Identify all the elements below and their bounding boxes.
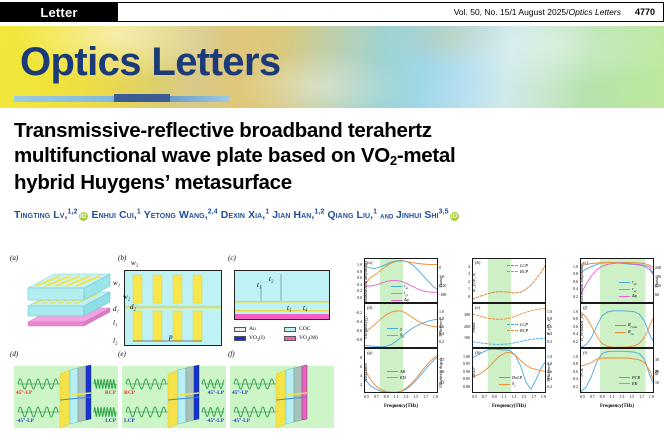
author-affiliation: 1,2 xyxy=(314,209,324,216)
panel-b-top-view: w₂ w₁ w₂ d₁ d₂ l₁ l₂ p xyxy=(124,270,222,346)
panel-tag-a: (a) xyxy=(367,260,372,265)
orcid-icon[interactable]: iD xyxy=(450,212,459,221)
x-tick-0: 0.5 xyxy=(364,394,369,402)
author-4: Dexin Xia,1 xyxy=(221,210,270,221)
wave-label-out-top: 45°-LP xyxy=(208,390,224,396)
x-tick-1: 0.7 xyxy=(590,394,595,402)
legend-line xyxy=(387,328,398,329)
legend-line xyxy=(619,383,630,384)
plot-legend: χS3 xyxy=(387,326,404,339)
dim-label-t2: t₂ xyxy=(269,275,273,283)
y2-tick-c-1: 120 xyxy=(655,283,664,288)
y-tick-c-2: 0.6 xyxy=(566,279,578,284)
y-tick-b-0: 0 xyxy=(458,294,470,299)
wave-label-out-bottom: LCP xyxy=(105,418,116,424)
author-affiliation: 1 xyxy=(265,209,269,216)
y2-tick-i-0: 10 xyxy=(655,380,664,385)
plot-legend: LCPRCP xyxy=(507,263,528,275)
y2-tick-c-3: 240 xyxy=(655,265,664,270)
legend-line xyxy=(499,377,510,378)
figure-area: (a) (b) (c) (d) (e) (f) xyxy=(0,252,664,440)
structure-3d-svg xyxy=(22,266,118,340)
dim-label-p: p xyxy=(169,333,173,341)
legend-text: ryy xyxy=(632,286,637,293)
title-line-1: Transmissive-reflective broadband terahe… xyxy=(14,119,432,142)
y-axis-label-g: Axial ratio xyxy=(363,350,368,395)
wave-label-in-top: 45°-LP xyxy=(232,390,248,396)
volume-text: Vol. 50, No. 15/1 August 2025/Optics Let… xyxy=(454,7,621,17)
y-tick-a-0: 0.0 xyxy=(350,295,362,300)
cross-section-svg xyxy=(235,271,329,319)
y-tick-a-4: 0.8 xyxy=(350,269,362,274)
y-tick-h-1: 0.85 xyxy=(458,376,470,381)
volume-info-bar: Vol. 50, No. 15/1 August 2025/Optics Let… xyxy=(118,2,664,22)
x-tick-3: 1.1 xyxy=(610,394,615,402)
y-tick-f-4: 1.0 xyxy=(566,309,578,314)
orcid-icon[interactable]: iD xyxy=(79,212,88,221)
y-tick-b-4: 4 xyxy=(458,264,470,269)
journal-header-bar: Letter Vol. 50, No. 15/1 August 2025/Opt… xyxy=(0,2,664,22)
y-tick-d-3: -0.2 xyxy=(350,310,362,315)
plot-legend: DoLPS1 xyxy=(499,375,522,388)
y-tick-f-1: 0.4 xyxy=(566,331,578,336)
legend-item-R_cross: Rcross xyxy=(615,322,637,329)
y-tick-b-1: 1 xyxy=(458,286,470,291)
legend-swatch xyxy=(234,336,246,341)
page-number: 4770 xyxy=(635,7,655,17)
masthead-journal-title: Optics Letters xyxy=(20,40,281,85)
y-tick-g-0: 2 xyxy=(350,382,362,387)
legend-text: rxx xyxy=(632,279,637,286)
legend-text: RCP xyxy=(520,269,528,275)
y-tick-e-2: 300 xyxy=(458,312,470,317)
article-type-tab: Letter xyxy=(0,2,118,22)
y-tick-f-3: 0.8 xyxy=(566,316,578,321)
panel-label-e: (e) xyxy=(118,350,126,358)
legend-text: Rcross xyxy=(628,322,637,329)
legend-line xyxy=(391,300,402,301)
legend-label: COC xyxy=(299,326,311,332)
panel-tag-c: (c) xyxy=(583,260,588,265)
legend-text: ER xyxy=(632,381,637,387)
legend-line xyxy=(387,371,398,372)
chart-grid: (a)txxtyyΔφTransmission amplitudesPhase0… xyxy=(340,254,662,440)
x-tick-2: 0.9 xyxy=(492,394,497,402)
y-tick-c-0: 0.2 xyxy=(566,294,578,299)
chart-column-1: (a)txxtyyΔφTransmission amplitudesPhase0… xyxy=(342,254,442,440)
panel-tag-h: (h) xyxy=(475,350,480,355)
legend-line xyxy=(507,271,518,272)
y-tick-d-0: -0.8 xyxy=(350,337,362,342)
page-title: Transmissive-reflective broadband terahe… xyxy=(14,118,484,195)
plot-legend: LCPRCP xyxy=(507,322,528,334)
legend-line xyxy=(619,289,630,290)
chart-panel-i[interactable]: (i)PCRER xyxy=(580,348,654,393)
title-subscript: 2 xyxy=(390,153,397,168)
author-7: Jinhui Shi3,5iD xyxy=(396,210,460,221)
dim-label-t3: t₃ xyxy=(287,304,291,312)
legend-swatch xyxy=(284,327,296,332)
x-tick-4: 1.3 xyxy=(511,394,516,402)
top-view-svg xyxy=(125,271,221,345)
plot-legend: txxtyyΔφ xyxy=(391,283,409,303)
chart-panel-c[interactable]: (c)rxxryyΔφ xyxy=(580,258,654,303)
y-axis-label-b: |E_y|/|E_x| xyxy=(471,260,476,305)
author-3: Yetong Wang,2,4 xyxy=(144,210,218,221)
legend-item-ER: ER xyxy=(619,381,640,387)
legend-text: S1 xyxy=(512,381,516,388)
y-tick-h-4: 1.00 xyxy=(458,354,470,359)
y-tick-d-1: -0.6 xyxy=(350,328,362,333)
y-tick-b-3: 3 xyxy=(458,271,470,276)
y-tick-b-2: 2 xyxy=(458,279,470,284)
author-list: Tingting Lv,1,2iD Enhui Cui,1 Yetong Wan… xyxy=(14,208,554,225)
x-axis-label: Frequency(THz) xyxy=(364,404,438,409)
legend-line xyxy=(507,330,518,331)
y2-tick-i-1: 20 xyxy=(655,369,664,374)
y-tick-i-0: 0.2 xyxy=(566,384,578,389)
title-line-3: hybrid Huygens’ metasurface xyxy=(14,171,292,194)
legend-text: ED xyxy=(400,375,406,381)
x-tick-labels: 0.50.70.91.11.31.51.71.9 xyxy=(580,394,654,402)
author-affiliation: 1 xyxy=(373,209,377,216)
dim-label-d1: d₁ xyxy=(113,305,119,313)
legend-text: txx xyxy=(404,283,408,290)
journal-name-italic: Optics Letters xyxy=(569,7,621,17)
author-affiliation: 1,2 xyxy=(68,209,78,216)
plot-legend: ARED xyxy=(387,369,406,381)
legend-line xyxy=(499,384,510,385)
plot-legend: PCRER xyxy=(619,375,640,387)
author-conjunction: and xyxy=(380,210,396,220)
legend-line xyxy=(619,296,630,297)
wave-label-in-bottom: -45°-LP xyxy=(232,418,250,424)
y2-tick-c-2: 180 xyxy=(655,274,664,279)
dim-label-w1: w₁ xyxy=(113,279,120,287)
x-tick-7: 1.9 xyxy=(649,394,654,402)
y2-tick-i-2: 30 xyxy=(655,357,664,362)
legend-item-RCP: RCP xyxy=(507,269,528,275)
legend-label: VO2(M) xyxy=(299,335,318,342)
legend-line xyxy=(507,324,518,325)
x-tick-labels: 0.50.70.91.11.31.51.71.9 xyxy=(472,394,546,402)
x-tick-6: 1.7 xyxy=(531,394,536,402)
title-line-2a: multifunctional wave plate based on VO xyxy=(14,144,390,167)
y-axis-label-i: PCR xyxy=(579,350,584,395)
y-tick-a-2: 0.4 xyxy=(350,282,362,287)
plot-svg xyxy=(581,259,654,303)
x-tick-0: 0.5 xyxy=(472,394,477,402)
x-tick-5: 1.5 xyxy=(521,394,526,402)
x-tick-4: 1.3 xyxy=(403,394,408,402)
chart-panel-h[interactable]: (h)DoLPS1 xyxy=(472,348,546,393)
author-1: Tingting Lv,1,2iD xyxy=(14,210,89,221)
x-tick-labels: 0.50.70.91.11.31.51.71.9 xyxy=(364,394,438,402)
y-tick-c-1: 0.4 xyxy=(566,286,578,291)
author-5: Jian Han,1,2 xyxy=(272,210,324,221)
legend-line xyxy=(615,325,626,326)
legend-swatch xyxy=(284,336,296,341)
panel-e-wave-diagram: RCPLCP45°-LP-45°-LP xyxy=(122,362,226,434)
legend-text: RCP xyxy=(520,328,528,334)
panel-tag-i: (i) xyxy=(583,350,587,355)
material-legend-VOI: VO2(I) xyxy=(234,335,282,342)
legend-label: Au xyxy=(249,326,256,332)
y-axis-label-f: R_cross&R_co xyxy=(579,305,584,350)
legend-item-R_co: Rco xyxy=(615,329,637,336)
y-tick-f-0: 0.2 xyxy=(566,339,578,344)
panel-tag-b: (b) xyxy=(475,260,480,265)
panel-tag-f: (f) xyxy=(583,305,587,310)
x-tick-2: 0.9 xyxy=(600,394,605,402)
x-tick-7: 1.9 xyxy=(541,394,546,402)
panel-label-a: (a) xyxy=(10,254,18,262)
y-tick-i-2: 0.6 xyxy=(566,369,578,374)
wave-label-in-top: 45°-LP xyxy=(16,390,32,396)
plot-svg xyxy=(581,349,654,393)
legend-item-t_xx: txx xyxy=(391,283,409,290)
panel-label-b: (b) xyxy=(118,254,126,262)
panel-f-wave-diagram: 45°-LP-45°-LP xyxy=(230,362,334,434)
panel-label-f: (f) xyxy=(228,350,235,358)
y-axis-label-h: DoLP xyxy=(471,350,476,395)
x-tick-1: 0.7 xyxy=(482,394,487,402)
dim-label-l1: l₁ xyxy=(113,319,117,327)
legend-line xyxy=(507,265,518,266)
y-tick-e-1: 200 xyxy=(458,324,470,329)
chart-panel-a[interactable]: (a)txxtyyΔφ xyxy=(364,258,438,303)
author-affiliation: 3,5 xyxy=(439,209,449,216)
x-tick-3: 1.1 xyxy=(502,394,507,402)
legend-item-RCP: RCP xyxy=(507,328,528,334)
legend-item-delta-phi: Δφ xyxy=(619,293,637,299)
x-axis-label: Frequency(THz) xyxy=(472,404,546,409)
legend-item-S3: S3 xyxy=(387,332,404,339)
y-tick-g-1: 4 xyxy=(350,373,362,378)
legend-item-r_xx: rxx xyxy=(619,279,637,286)
x-tick-5: 1.5 xyxy=(413,394,418,402)
wave-label-in-bottom: -45°-LP xyxy=(16,418,34,424)
legend-text: tyy xyxy=(404,290,408,297)
legend-line xyxy=(391,293,402,294)
legend-text: Δφ xyxy=(632,293,637,299)
y-tick-a-5: 1.0 xyxy=(350,262,362,267)
material-legend-Au: Au xyxy=(234,326,282,332)
panel-tag-e: (e) xyxy=(475,305,480,310)
legend-item-t_yy: tyy xyxy=(391,290,409,297)
x-tick-1: 0.7 xyxy=(374,394,379,402)
panel-tag-d: (d) xyxy=(367,305,372,310)
panel-c-cross-section: t₁ t₂ t₃ t₄ xyxy=(234,270,330,320)
y-axis-label-c: Reflection amplitudes xyxy=(579,260,584,305)
masthead-rule xyxy=(14,96,229,102)
y-tick-f-2: 0.6 xyxy=(566,324,578,329)
wave-label-out-bottom: -45°-LP xyxy=(206,418,224,424)
y-tick-d-2: -0.4 xyxy=(350,319,362,324)
title-line-2b: -metal xyxy=(397,144,456,167)
x-tick-7: 1.9 xyxy=(433,394,438,402)
author-affiliation: 1 xyxy=(137,209,141,216)
y-axis-label-e: Phase xyxy=(471,305,476,350)
legend-item-ED: ED xyxy=(387,375,406,381)
material-legend-COC: COC xyxy=(284,326,336,332)
legend-line xyxy=(391,286,402,287)
dim-label-w2-top: w₂ xyxy=(131,259,138,267)
x-tick-4: 1.3 xyxy=(619,394,624,402)
panel-d-wave-diagram: 45°-LP-45°-LPRCPLCP xyxy=(14,362,118,434)
legend-item-r_yy: ryy xyxy=(619,286,637,293)
dim-label-t4: t₄ xyxy=(303,304,307,312)
x-tick-5: 1.5 xyxy=(629,394,634,402)
y-tick-e-0: 100 xyxy=(458,335,470,340)
legend-line xyxy=(619,282,630,283)
plot-legend: rxxryyΔφ xyxy=(619,279,637,299)
x-tick-2: 0.9 xyxy=(384,394,389,402)
legend-line xyxy=(387,335,398,336)
x-tick-3: 1.1 xyxy=(394,394,399,402)
chart-panel-g[interactable]: (g)ARED xyxy=(364,348,438,393)
y-axis-label-d: Ellipticity(χ) xyxy=(363,305,368,350)
legend-swatch xyxy=(234,327,246,332)
y-tick-g-3: 8 xyxy=(350,355,362,360)
legend-item-S1: S1 xyxy=(499,381,522,388)
legend-label: VO2(I) xyxy=(249,335,265,342)
x-tick-6: 1.7 xyxy=(423,394,428,402)
legend-text: Rco xyxy=(628,329,634,336)
x-axis-label: Frequency(THz) xyxy=(580,404,654,409)
author-6: Qiang Liu,1 xyxy=(327,210,377,221)
y-tick-a-1: 0.2 xyxy=(350,288,362,293)
chart-panel-d[interactable]: (d)χS3 xyxy=(364,303,438,348)
panel-a-3d-structure xyxy=(22,266,118,340)
materials-legend: AuCOCVO2(I)VO2(M) xyxy=(234,326,334,344)
y-tick-h-3: 0.95 xyxy=(458,361,470,366)
author-2: Enhui Cui,1 xyxy=(92,210,141,221)
y2-tick-c-0: 60 xyxy=(655,292,664,297)
dim-label-w2: w₂ xyxy=(123,293,130,301)
panel-label-c: (c) xyxy=(228,254,236,262)
x-tick-0: 0.5 xyxy=(580,394,585,402)
legend-text: S3 xyxy=(400,332,404,339)
wave-label-in-top: RCP xyxy=(124,390,135,396)
legend-line xyxy=(615,332,626,333)
y-tick-h-0: 0.80 xyxy=(458,384,470,389)
panel-tag-g: (g) xyxy=(367,350,372,355)
chart-column-3: (c)rxxryyΔφReflection amplitudesPhase0.2… xyxy=(558,254,658,440)
y-tick-h-2: 0.90 xyxy=(458,369,470,374)
chart-panel-e[interactable]: (e)LCPRCP xyxy=(472,303,546,348)
x-tick-6: 1.7 xyxy=(639,394,644,402)
chart-panel-f[interactable]: (f)RcrossRco xyxy=(580,303,654,348)
chart-panel-b[interactable]: (b)LCPRCP xyxy=(472,258,546,303)
y-axis-label-a: Transmission amplitudes xyxy=(363,260,368,305)
y-tick-c-3: 0.8 xyxy=(566,271,578,276)
author-affiliation: 2,4 xyxy=(208,209,218,216)
legend-line xyxy=(619,377,630,378)
plot-legend: RcrossRco xyxy=(615,322,637,336)
y-tick-g-2: 6 xyxy=(350,364,362,369)
panel-label-d: (d) xyxy=(10,350,18,358)
schematic-block: (a) (b) (c) (d) (e) (f) xyxy=(4,252,336,440)
dim-label-d2: d₂ xyxy=(130,303,136,311)
y-tick-a-3: 0.6 xyxy=(350,275,362,280)
dim-label-t1: t₁ xyxy=(257,281,261,289)
material-legend-VOM: VO2(M) xyxy=(284,335,336,342)
y-tick-i-3: 0.8 xyxy=(566,361,578,366)
y-tick-i-4: 1.0 xyxy=(566,354,578,359)
chart-column-2: (b)LCPRCP|E_y|/|E_x|01234(e)LCPRCPPhaseA… xyxy=(450,254,550,440)
y-tick-i-1: 0.4 xyxy=(566,376,578,381)
y-tick-c-4: 1.0 xyxy=(566,264,578,269)
wave-label-out-top: RCP xyxy=(105,390,116,396)
wave-label-in-bottom: LCP xyxy=(124,418,135,424)
dim-label-l2: l₂ xyxy=(113,337,117,345)
legend-line xyxy=(387,377,398,378)
